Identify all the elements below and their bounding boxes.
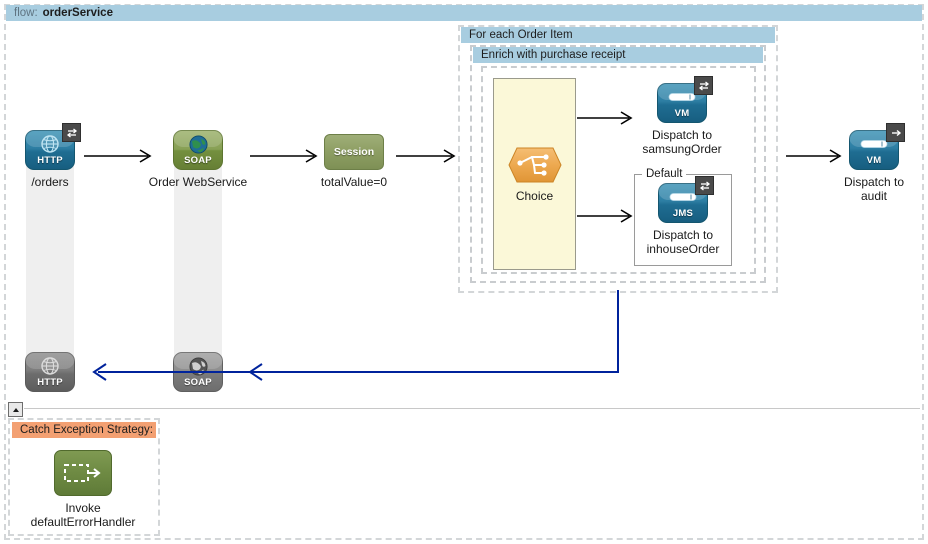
node-vm-samsung-label: Dispatch to samsungOrder [642, 128, 721, 156]
http-globe-icon [25, 356, 75, 376]
choice-router-block[interactable]: Choice [493, 78, 576, 270]
node-soap-webservice[interactable]: SOAP Order WebService [138, 130, 258, 189]
vm-endpoint-icon[interactable]: VM [657, 83, 707, 123]
vm-endpoint-tag: VM [657, 108, 707, 119]
node-session-variable-label: totalValue=0 [321, 175, 387, 189]
soap-endpoint-icon[interactable]: SOAP [173, 130, 223, 170]
session-variable-icon[interactable]: Session [324, 134, 384, 170]
flow-editor-canvas: flow: orderService [0, 0, 928, 544]
soap-return-tag: SOAP [173, 377, 223, 388]
lane-soap [174, 160, 222, 360]
flow-keyword: flow: [14, 7, 38, 19]
vm-audit-endpoint-tag: VM [849, 155, 899, 166]
choice-router-label: Choice [516, 189, 553, 203]
request-response-badge [62, 123, 81, 142]
choice-router-icon [508, 146, 562, 184]
lane-http [26, 160, 74, 360]
soap-globe-icon [173, 356, 223, 376]
node-soap-return[interactable]: SOAP [138, 352, 258, 392]
jms-endpoint-tag: JMS [658, 208, 708, 219]
node-jms-inhouse[interactable]: JMS Dispatch to inhouseOrder [623, 183, 743, 256]
http-return-icon[interactable]: HTTP [25, 352, 75, 392]
http-endpoint-icon[interactable]: HTTP [25, 130, 75, 170]
node-http-inbound[interactable]: HTTP /orders [0, 130, 110, 189]
http-return-tag: HTTP [25, 377, 75, 388]
exception-strategy-title[interactable]: Catch Exception Strategy: [12, 422, 156, 438]
vm-audit-endpoint-icon[interactable]: VM [849, 130, 899, 170]
session-variable-tag: Session [334, 146, 374, 158]
node-jms-inhouse-label: Dispatch to inhouseOrder [647, 228, 720, 256]
scope-foreach-title[interactable]: For each Order Item [461, 27, 775, 43]
node-vm-audit[interactable]: VM Dispatch to audit [814, 130, 928, 203]
node-vm-samsung[interactable]: VM Dispatch to samsungOrder [622, 83, 742, 156]
node-invoke-error-handler-label: Invoke defaultErrorHandler [31, 501, 136, 529]
exception-collapse-toggle[interactable] [8, 402, 23, 417]
invoke-component-icon[interactable] [54, 450, 112, 496]
scope-enrich-title[interactable]: Enrich with purchase receipt [473, 47, 763, 63]
node-http-return[interactable]: HTTP [0, 352, 110, 392]
flow-name: orderService [43, 7, 113, 19]
node-invoke-error-handler[interactable]: Invoke defaultErrorHandler [23, 450, 143, 529]
collapse-triangle-icon [12, 406, 20, 414]
http-endpoint-tag: HTTP [25, 155, 75, 166]
node-http-inbound-label: /orders [31, 175, 68, 189]
request-response-badge [694, 76, 713, 95]
soap-endpoint-tag: SOAP [173, 155, 223, 166]
node-soap-webservice-label: Order WebService [149, 175, 247, 189]
request-response-badge [695, 176, 714, 195]
one-way-badge [886, 123, 905, 142]
jms-endpoint-icon[interactable]: JMS [658, 183, 708, 223]
exception-section-divider [24, 408, 920, 409]
soap-globe-icon [173, 134, 223, 154]
default-route-legend: Default [642, 167, 686, 181]
node-vm-audit-label: Dispatch to audit [844, 175, 904, 203]
node-session-variable[interactable]: Session totalValue=0 [294, 134, 414, 189]
soap-return-icon[interactable]: SOAP [173, 352, 223, 392]
flow-title-bar[interactable]: flow: orderService [6, 5, 922, 21]
